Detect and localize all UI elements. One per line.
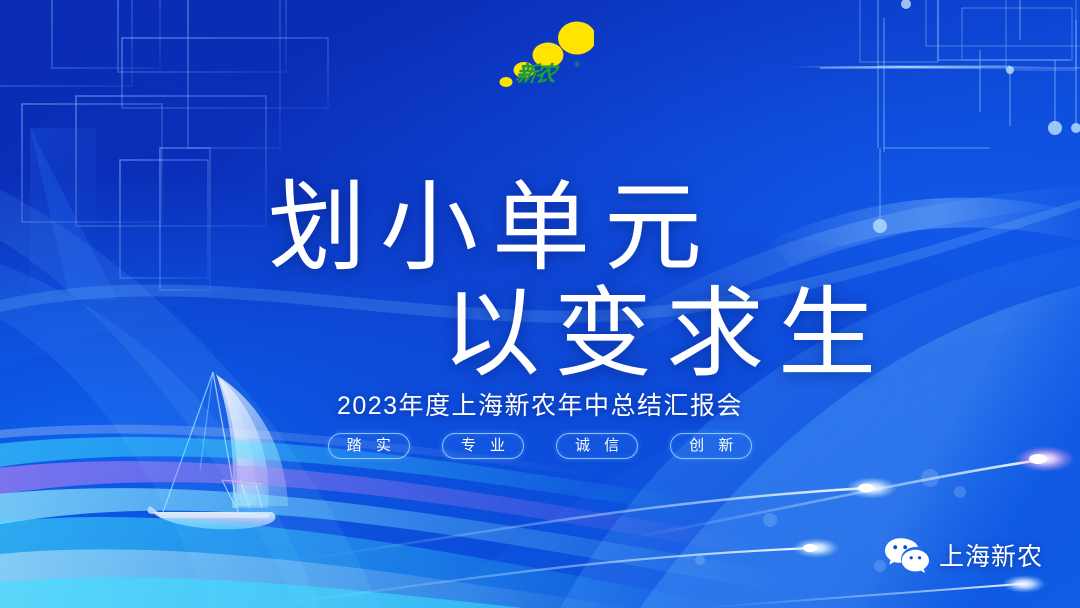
wechat-account-block: 上海新农 [884,536,1043,574]
tag-chip-chengxin: 诚 信 [556,433,638,459]
presentation-cover-poster: 新农 ® 划小单元 以变求生 2023年度上海新农年中总结汇报会 踏 实 专 业… [0,0,1080,608]
event-subtitle: 2023年度上海新农年中总结汇报会 [0,386,1080,422]
value-tag-row: 踏 实 专 业 诚 信 创 新 [0,433,1080,459]
tag-chip-tashi: 踏 实 [328,433,410,459]
headline-line-2: 以变求生 [442,254,890,396]
logo-registered-mark: ® [574,60,580,69]
logo-wordmark: 新农 [514,62,580,88]
wechat-account-name: 上海新农 [939,537,1043,573]
tag-chip-zhuanye: 专 业 [442,433,524,459]
wechat-icon [884,536,930,574]
tag-chip-chuangxin: 创 新 [670,433,752,459]
